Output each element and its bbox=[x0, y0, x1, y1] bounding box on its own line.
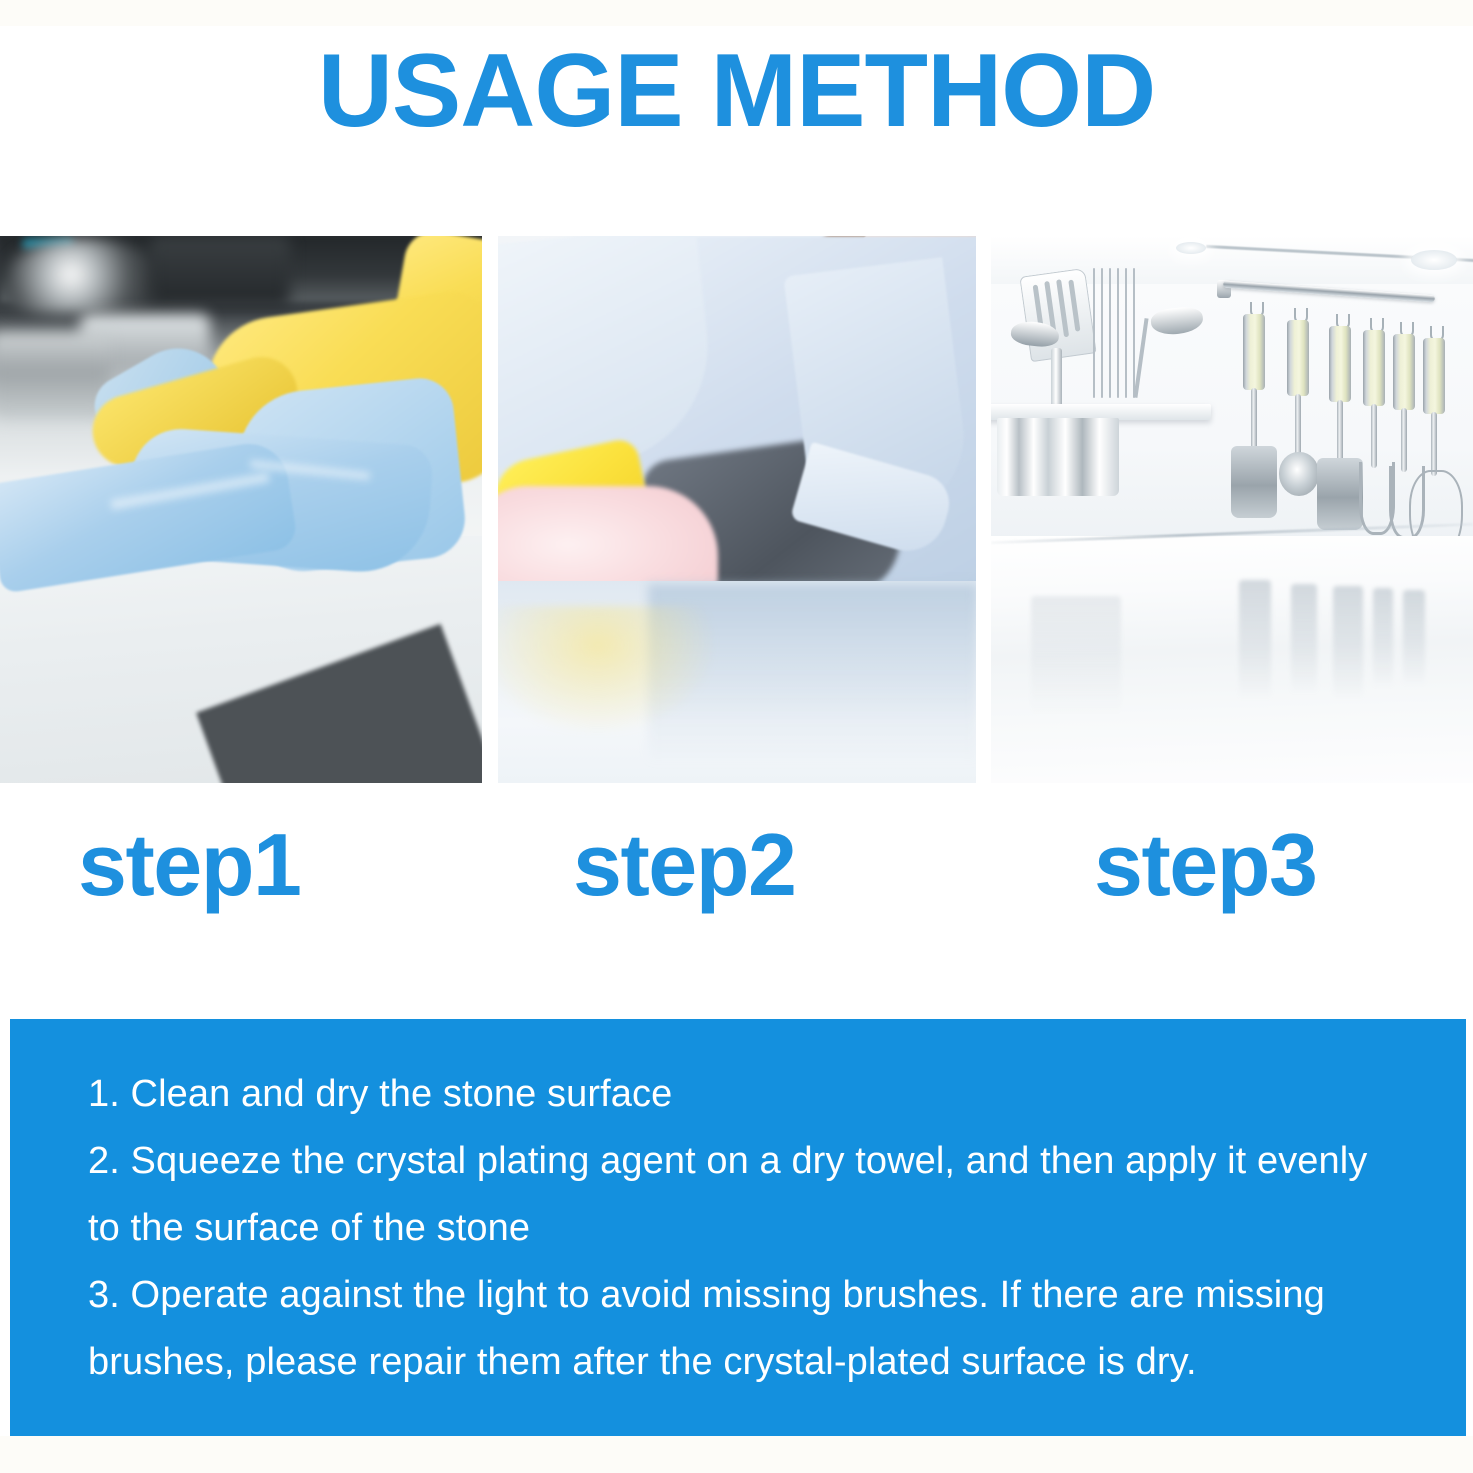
step2-glove-reflection bbox=[498, 606, 718, 736]
step2-label: step2 bbox=[573, 805, 795, 925]
step-label-row: step1 step2 step3 bbox=[0, 800, 1473, 930]
step3-reflection-d bbox=[1373, 588, 1393, 688]
instruction-line-1: 1. Clean and dry the stone surface bbox=[88, 1061, 1392, 1128]
instruction-line-3: 3. Operate against the light to avoid mi… bbox=[88, 1262, 1392, 1396]
step1-label: step1 bbox=[78, 805, 300, 925]
step2-label-cell: step2 bbox=[491, 800, 982, 930]
instructions-panel: 1. Clean and dry the stone surface 2. Sq… bbox=[10, 1019, 1466, 1436]
step1-photo bbox=[0, 236, 482, 783]
instruction-line-2: 2. Squeeze the crystal plating agent on … bbox=[88, 1128, 1392, 1262]
usage-method-infographic: USAGE METHOD bbox=[0, 0, 1473, 1473]
step3-stem-1 bbox=[1251, 388, 1257, 452]
step3-grip-4 bbox=[1363, 330, 1385, 406]
bottom-edge-strip bbox=[0, 1436, 1473, 1473]
step3-reflection-b bbox=[1291, 584, 1317, 694]
step3-utensil-holder bbox=[997, 418, 1119, 496]
step3-reflection-a bbox=[1239, 580, 1271, 700]
top-edge-strip bbox=[0, 0, 1473, 26]
step3-stem-3 bbox=[1337, 400, 1343, 464]
step3-spatula-head bbox=[1231, 446, 1277, 518]
step1-counter-shadow bbox=[196, 624, 482, 783]
step3-grip-1 bbox=[1243, 314, 1265, 390]
step3-reflection-shelf bbox=[1031, 596, 1121, 716]
step2-photo bbox=[498, 236, 976, 783]
step3-photo bbox=[991, 236, 1473, 783]
step3-stem-4 bbox=[1371, 404, 1377, 468]
page-title: USAGE METHOD bbox=[0, 26, 1473, 156]
step3-stem-5 bbox=[1401, 408, 1407, 472]
step1-appliance bbox=[150, 236, 290, 306]
step3-ceiling-light bbox=[1411, 250, 1457, 270]
step3-spoon-head bbox=[1279, 452, 1319, 496]
step3-stem-2 bbox=[1295, 394, 1301, 458]
step3-reflection-c bbox=[1333, 586, 1363, 700]
step1-pot-lid bbox=[8, 238, 158, 314]
step3-stem-6 bbox=[1431, 412, 1437, 476]
step3-grip-5 bbox=[1393, 334, 1415, 410]
step3-grip-3 bbox=[1329, 326, 1351, 402]
step3-grip-2 bbox=[1287, 320, 1309, 396]
step3-grip-6 bbox=[1423, 338, 1445, 414]
step1-label-cell: step1 bbox=[0, 800, 491, 930]
step-photo-row bbox=[0, 236, 1473, 783]
step3-spatula-handle bbox=[1051, 348, 1062, 410]
step3-label-cell: step3 bbox=[982, 800, 1473, 930]
step3-reflection-e bbox=[1403, 590, 1425, 686]
step3-label: step3 bbox=[1094, 805, 1316, 925]
step3-turner-head bbox=[1317, 458, 1363, 530]
step3-ceiling-light-small bbox=[1176, 242, 1206, 254]
